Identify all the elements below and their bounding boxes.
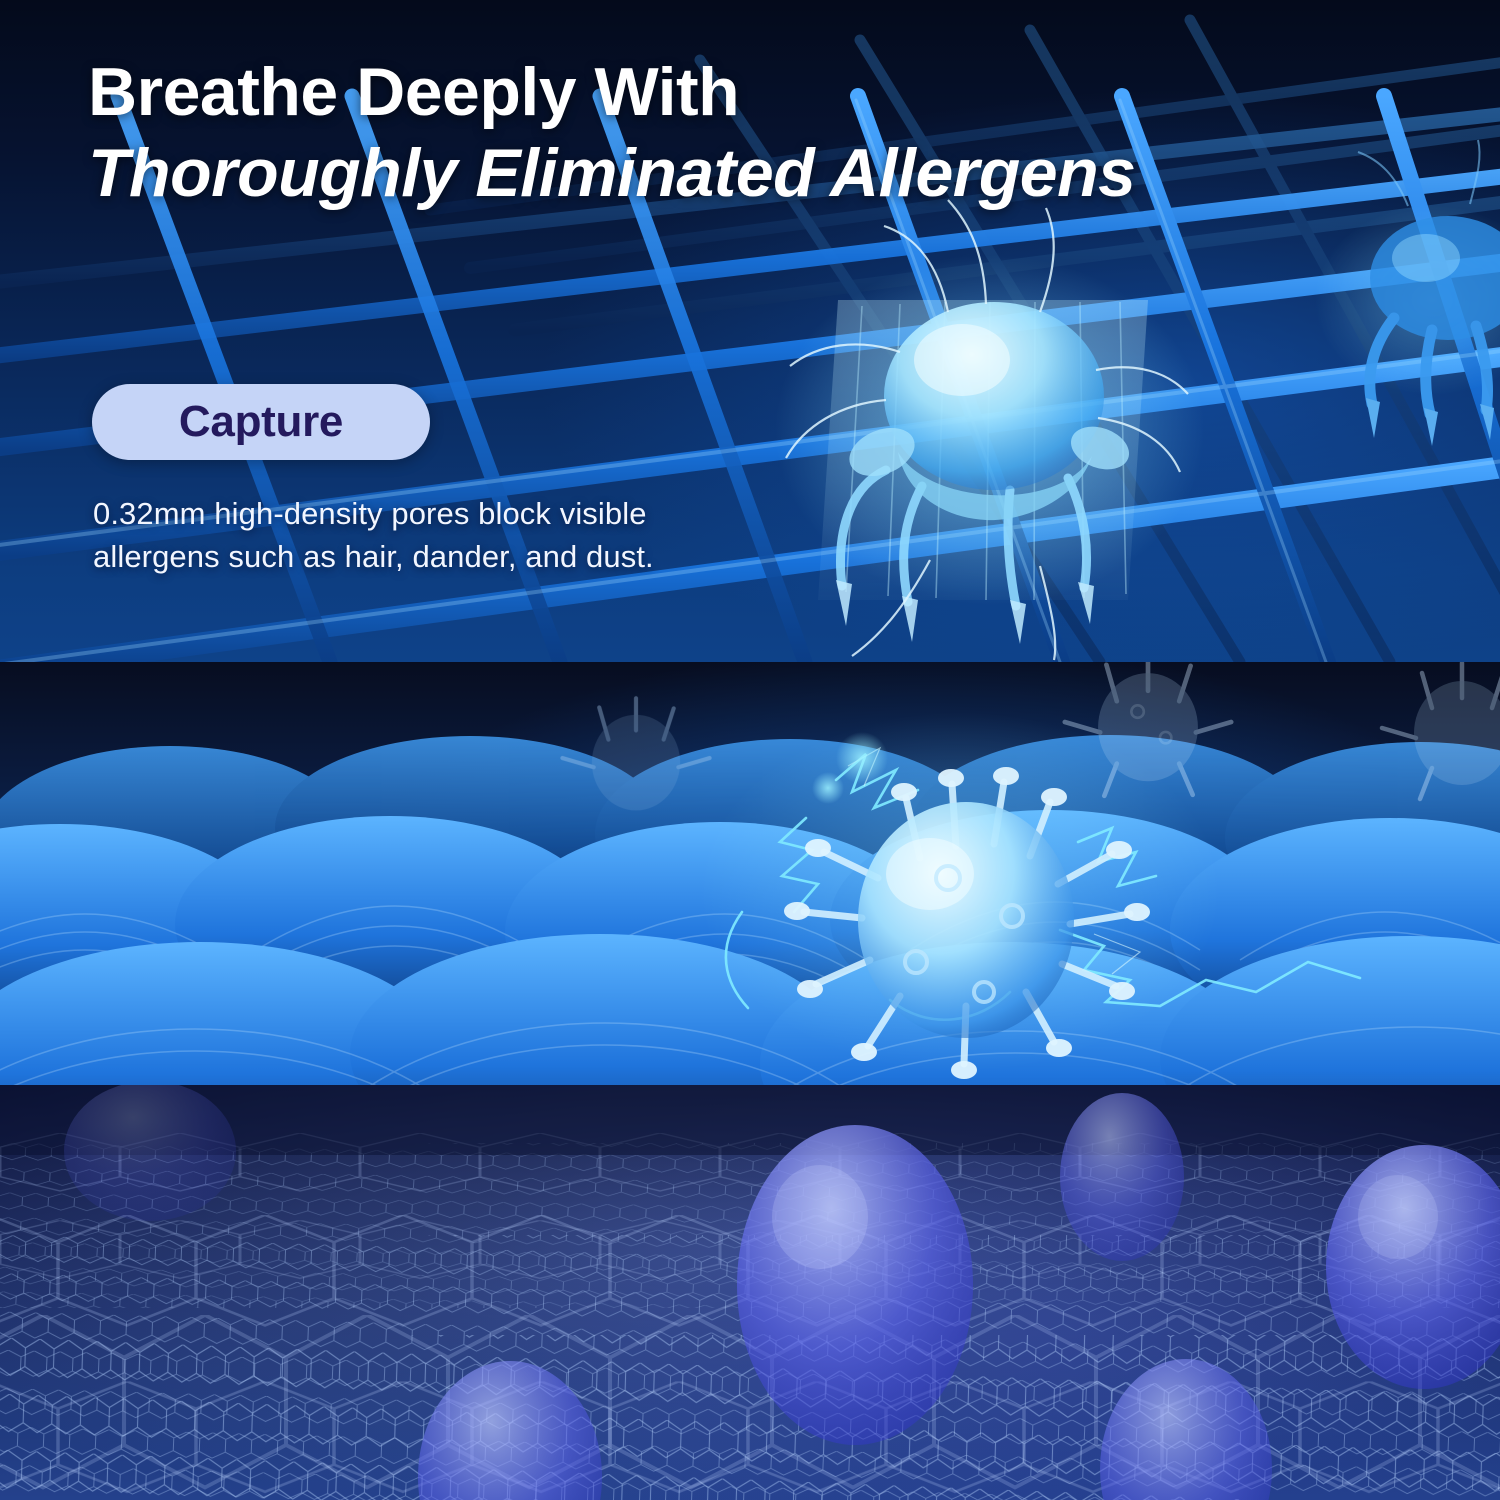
pill-capture: Capture (92, 384, 430, 460)
pill-capture-label: Capture (179, 397, 343, 447)
bubble-ch2o-large (737, 1125, 973, 1445)
bubble-nh3-faint (64, 1085, 236, 1221)
product-feature-graphic: Capture 0.32mm high-density pores block … (0, 0, 1500, 1500)
virus-on-electrostatic-fibers-illustration (0, 662, 1500, 1085)
bubble-ch2o-small (1060, 1093, 1184, 1261)
panel-filtration: Filtration 99.97%2 electrostatic capture… (0, 662, 1500, 1085)
description-capture: 0.32mm high-density pores block visible … (93, 492, 773, 579)
page-title: Breathe Deeply With Thoroughly Eliminate… (88, 58, 1388, 211)
carbon-honeycomb-with-gas-molecules-illustration (0, 1085, 1500, 1500)
capture-metric-value: 0.32mm (93, 496, 206, 531)
panel-adsorption: CH2O CH2O SO2 NH3 SO2 NH3 Adsorption 98.… (0, 1085, 1500, 1500)
headline-line-1: Breathe Deeply With (88, 58, 1388, 127)
headline-line-2: Thoroughly Eliminated Allergens (88, 137, 1388, 210)
